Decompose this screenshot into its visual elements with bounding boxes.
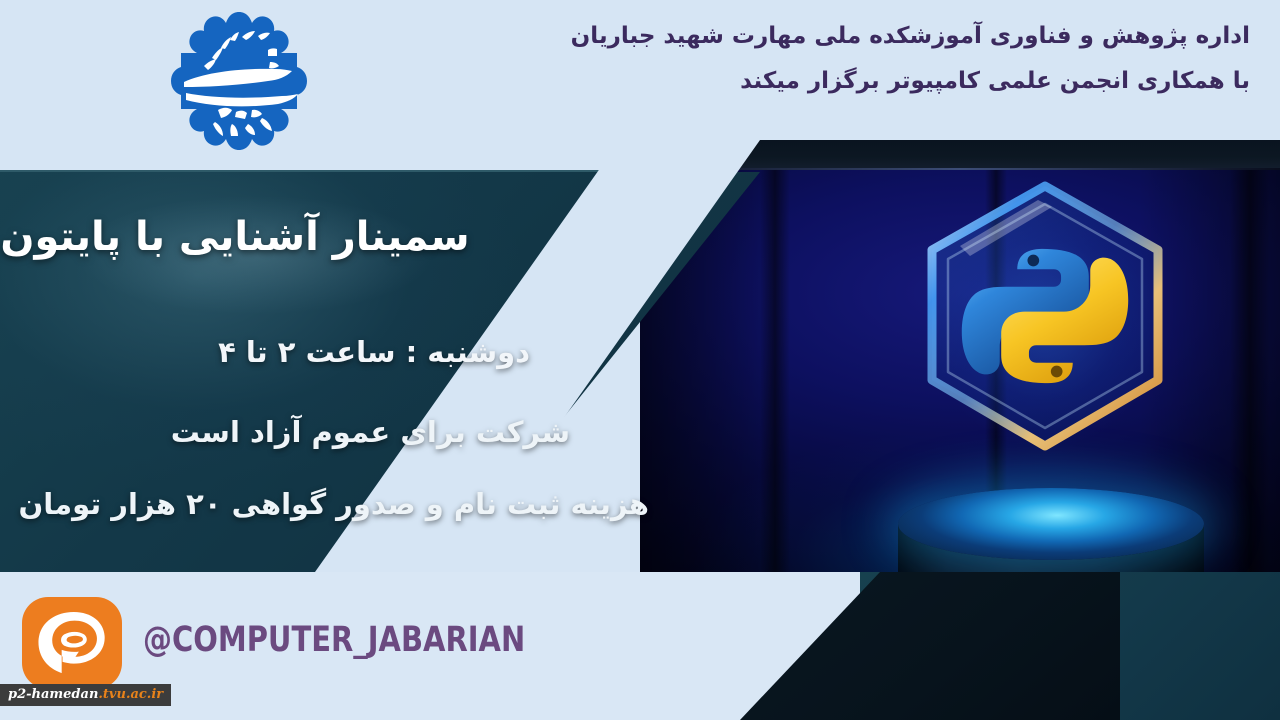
seminar-fee: هزینه ثبت نام و صدور گواهی ۲۰ هزار تومان	[0, 487, 665, 521]
background-streak	[760, 170, 790, 580]
python-logo-icon	[920, 180, 1170, 458]
pedestal-top-glow	[898, 488, 1204, 560]
university-logo-icon	[158, 6, 320, 166]
seminar-poster: اداره پژوهش و فناوری آموزشکده ملی مهارت …	[0, 0, 1280, 720]
organizer-header: اداره پژوهش و فناوری آموزشکده ملی مهارت …	[590, 14, 1250, 104]
seminar-time: دوشنبه : ساعت ۲ تا ۴	[0, 335, 560, 369]
seminar-open-notice: شرکت برای عموم آزاد است	[0, 415, 600, 449]
page-title: سمینار آشنایی با پایتون	[0, 214, 470, 260]
python-hologram	[920, 180, 1170, 458]
telegram-handle[interactable]: @COMPUTER_JABARIAN	[143, 620, 525, 660]
eitaa-icon[interactable]	[22, 597, 122, 689]
header-band	[0, 0, 660, 172]
organizer-line-1: اداره پژوهش و فناوری آموزشکده ملی مهارت …	[590, 14, 1250, 59]
eitaa-glyph	[29, 600, 115, 686]
watermark-tld: .tvu.ac.ir	[98, 687, 163, 702]
background-streak	[1230, 170, 1270, 580]
source-watermark: p2-hamedan.tvu.ac.ir	[0, 684, 171, 706]
watermark-name: p2-hamedan	[8, 687, 98, 702]
organizer-line-2: با همکاری انجمن علمی کامپیوتر برگزار میک…	[590, 59, 1250, 104]
